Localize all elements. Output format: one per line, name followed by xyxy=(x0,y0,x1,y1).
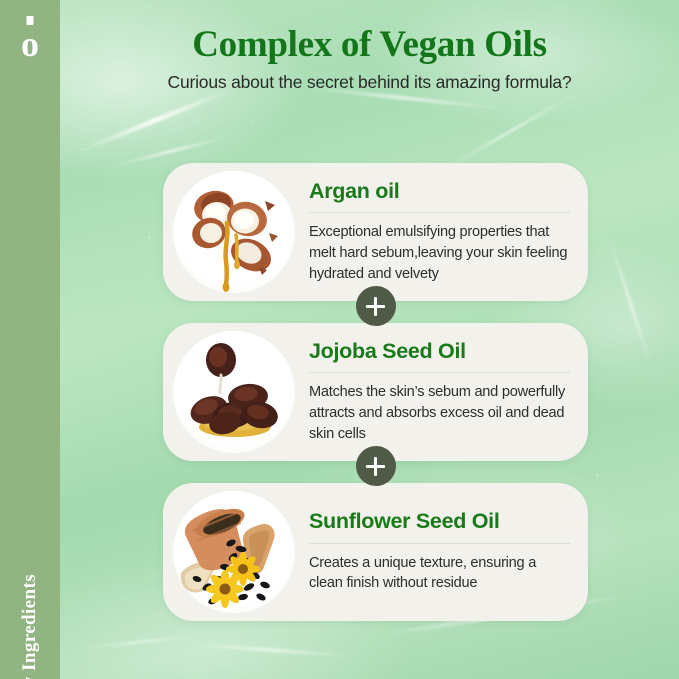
sidebar-vertical-label: Key Ingredients xyxy=(19,574,41,679)
plus-separator xyxy=(163,461,588,483)
card-heading: Sunflower Seed Oil xyxy=(309,510,570,534)
card-description: Creates a unique texture, ensuring a cle… xyxy=(309,553,570,594)
header: Complex of Vegan Oils Curious about the … xyxy=(60,0,679,93)
ingredient-card[interactable]: Argan oil Exceptional emulsifying proper… xyxy=(163,163,588,301)
gel-highlight-streak xyxy=(440,90,580,173)
gel-highlight-streak xyxy=(75,86,234,154)
sunflower-seeds-mortar-image xyxy=(173,491,295,613)
dot-accent-icon xyxy=(27,16,34,25)
card-divider xyxy=(309,543,570,544)
page-title: Complex of Vegan Oils xyxy=(60,26,679,65)
plus-icon[interactable] xyxy=(356,446,396,486)
brand-logo: o xyxy=(21,26,39,62)
card-description: Matches the skin’s sebum and powerfully … xyxy=(309,382,570,444)
left-sidebar: o Key Ingredients xyxy=(0,0,60,679)
card-heading: Jojoba Seed Oil xyxy=(309,340,570,364)
card-heading: Argan oil xyxy=(309,180,570,204)
ingredient-card-stack: Argan oil Exceptional emulsifying proper… xyxy=(163,163,588,621)
gel-highlight-streak xyxy=(180,642,360,659)
brand-logo-letter: o xyxy=(21,24,39,64)
jojoba-seeds-with-oil-image xyxy=(173,331,295,453)
card-description: Exceptional emulsifying properties that … xyxy=(309,222,570,284)
card-body: Jojoba Seed Oil Matches the skin’s sebum… xyxy=(301,340,572,445)
plus-icon[interactable] xyxy=(356,286,396,326)
ingredient-card[interactable]: Jojoba Seed Oil Matches the skin’s sebum… xyxy=(163,323,588,461)
gel-highlight-streak xyxy=(606,235,653,369)
card-body: Argan oil Exceptional emulsifying proper… xyxy=(301,180,572,285)
card-divider xyxy=(309,212,570,213)
card-divider xyxy=(309,372,570,373)
plus-separator xyxy=(163,301,588,323)
ingredient-card[interactable]: Sunflower Seed Oil Creates a unique text… xyxy=(163,483,588,621)
argan-nuts-with-oil-drip-image xyxy=(173,171,295,293)
gel-highlight-streak xyxy=(80,633,210,650)
page-subtitle: Curious about the secret behind its amaz… xyxy=(60,72,679,93)
card-body: Sunflower Seed Oil Creates a unique text… xyxy=(301,510,572,594)
